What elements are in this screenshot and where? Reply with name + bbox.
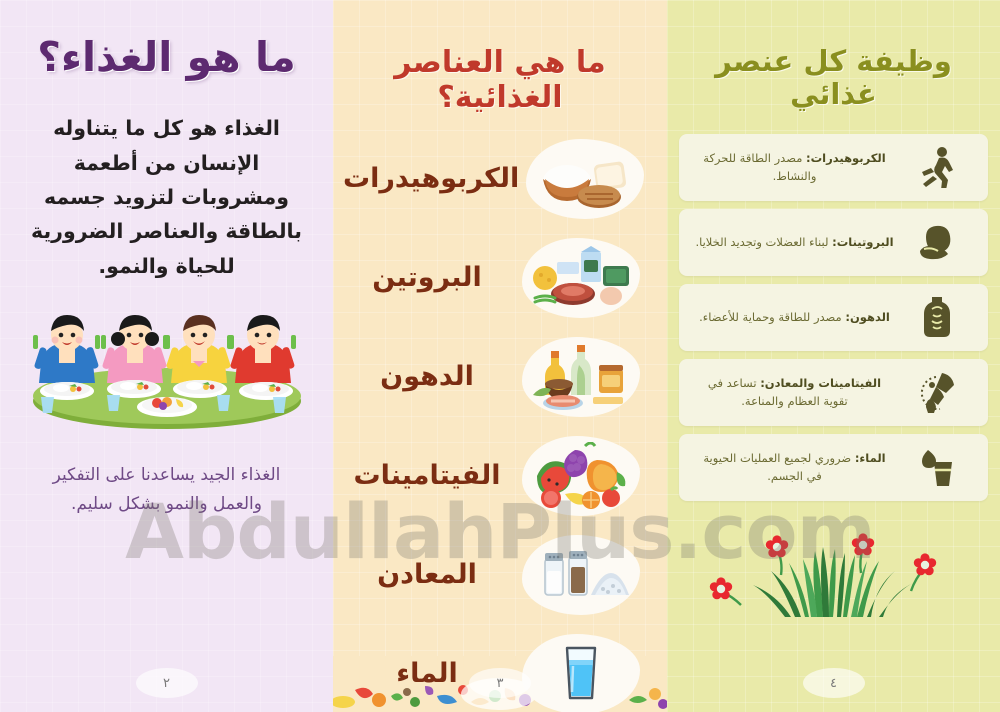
function-desc: لبناء العضلات وتجديد الخلايا.: [695, 235, 828, 249]
fruits-and-vegetables-icon: [522, 436, 640, 516]
panel-nutrient-functions: وظيفة كل عنصر غذائي الكربوهيدرات: مصدر ا…: [667, 0, 1000, 712]
function-term: الكربوهيدرات:: [806, 151, 886, 165]
function-desc: ضروري لجميع العمليات الحيوية في الجسم.: [703, 451, 851, 483]
function-term: الفيتامينات والمعادن:: [760, 376, 881, 390]
child-blue: [33, 315, 100, 383]
function-term: الدهون:: [845, 310, 890, 324]
function-term: الماء:: [855, 451, 886, 465]
grass-and-flowers-decoration: [667, 509, 1000, 619]
what-is-food-body-text: الغذاء هو كل ما يتناوله الإنسان من أطعمة…: [26, 111, 307, 283]
infographic-page: ما هو الغذاء؟ الغذاء هو كل ما يتناوله ال…: [0, 0, 1000, 712]
functions-card-list: الكربوهيدرات: مصدر الطاقة للحركة والنشاط…: [679, 134, 988, 501]
page-number-right: ٢: [136, 668, 198, 698]
good-food-note: الغذاء الجيد يساعدنا على التفكير والعمل …: [30, 461, 303, 519]
function-card: الدهون: مصدر للطاقة وحماية للأعضاء.: [679, 284, 988, 351]
salt-shakers-and-minerals-icon: [522, 535, 640, 615]
running-person-icon: [900, 146, 974, 188]
flower: [710, 577, 741, 605]
nutrient-image: [511, 337, 651, 417]
flower: [852, 533, 874, 573]
bread-and-rice-bowl-icon: [526, 139, 644, 219]
page-number-middle: ٣: [469, 668, 531, 698]
page-number-left: ٤: [803, 668, 865, 698]
panel-title-right: ما هو الغذاء؟: [0, 34, 333, 81]
function-desc: مصدر الطاقة للحركة والنشاط.: [703, 151, 816, 183]
nutrient-image: [511, 634, 651, 712]
nutrient-row: المعادن: [333, 525, 667, 624]
function-term: البروتينات:: [832, 235, 893, 249]
water-droplet-glass-icon: [900, 446, 974, 488]
flexed-bicep-icon: [900, 221, 974, 263]
child-red: [229, 315, 296, 383]
nutrient-image: [511, 436, 651, 516]
children-eating-illustration: [21, 305, 313, 437]
nutrient-label: الفيتامينات: [343, 460, 511, 491]
nutrient-image: [519, 139, 651, 219]
nutrient-image: [511, 238, 651, 318]
nutrient-row: الكربوهيدرات: [333, 129, 667, 228]
function-text: الفيتامينات والمعادن: تساعد في تقوية الع…: [689, 374, 900, 411]
nutrient-row: الفيتامينات: [333, 426, 667, 525]
glass-of-water-icon: [522, 634, 640, 712]
bone-shield-icon: [900, 371, 974, 413]
function-text: الماء: ضروري لجميع العمليات الحيوية في ا…: [689, 449, 900, 486]
function-card: الماء: ضروري لجميع العمليات الحيوية في ا…: [679, 434, 988, 501]
function-text: الدهون: مصدر للطاقة وحماية للأعضاء.: [689, 308, 900, 326]
child-pink: [101, 315, 168, 383]
nutrient-label: المعادن: [343, 559, 511, 590]
function-card: البروتينات: لبناء العضلات وتجديد الخلايا…: [679, 209, 988, 276]
panel-title-middle: ما هي العناصر الغذائية؟: [333, 46, 667, 115]
function-text: الكربوهيدرات: مصدر الطاقة للحركة والنشاط…: [689, 149, 900, 186]
function-text: البروتينات: لبناء العضلات وتجديد الخلايا…: [689, 233, 900, 251]
nutrient-row: الدهون: [333, 327, 667, 426]
panel-title-left: وظيفة كل عنصر غذائي: [667, 45, 1000, 112]
function-desc: مصدر للطاقة وحماية للأعضاء.: [699, 310, 842, 324]
panel-what-is-food: ما هو الغذاء؟ الغذاء هو كل ما يتناوله ال…: [0, 0, 333, 712]
flower: [766, 535, 788, 575]
child-yellow: [165, 315, 232, 383]
function-card: الفيتامينات والمعادن: تساعد في تقوية الع…: [679, 359, 988, 426]
torso-organs-icon: [900, 295, 974, 339]
flower: [911, 553, 936, 591]
function-card: الكربوهيدرات: مصدر الطاقة للحركة والنشاط…: [679, 134, 988, 201]
nutrient-image: [511, 535, 651, 615]
nutrient-label: الكربوهيدرات: [343, 163, 519, 194]
oils-and-butter-icon: [522, 337, 640, 417]
meat-eggs-milk-icon: [522, 238, 640, 318]
panel-what-are-nutrients: ما هي العناصر الغذائية؟ الكربوهيدرات: [333, 0, 667, 712]
nutrient-label: الدهون: [343, 361, 511, 392]
nutrient-row: البروتين: [333, 228, 667, 327]
nutrient-label: البروتين: [343, 262, 511, 293]
nutrients-list: الكربوهيدرات: [333, 129, 667, 712]
